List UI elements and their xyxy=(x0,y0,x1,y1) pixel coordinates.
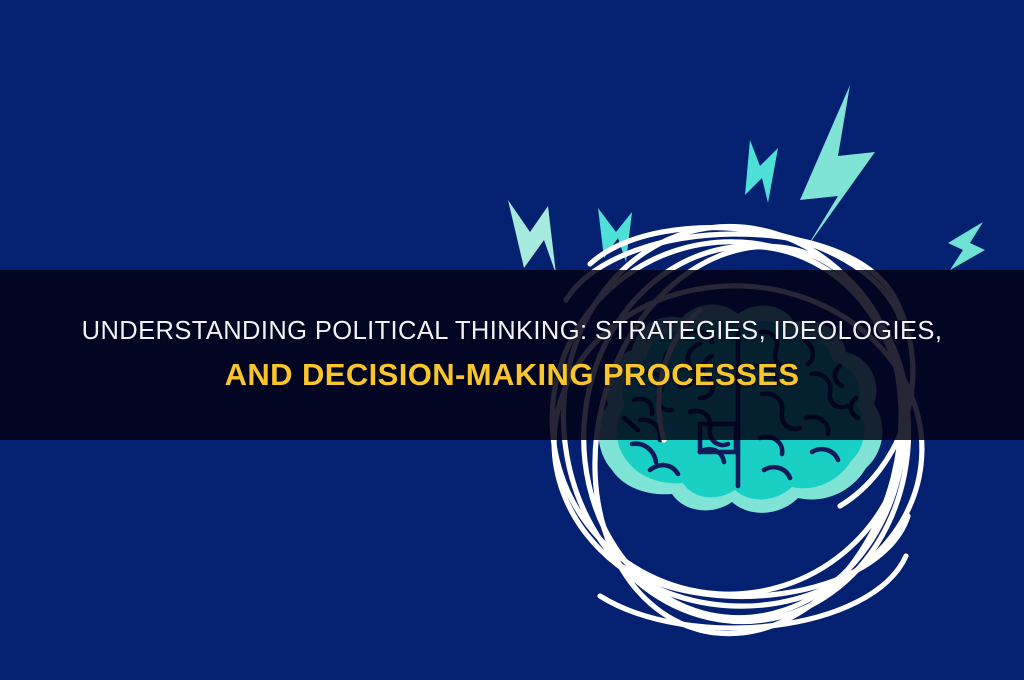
title-overlay-band xyxy=(0,270,1024,440)
banner-image: UNDERSTANDING POLITICAL THINKING: STRATE… xyxy=(0,0,1024,680)
lightning-bolt-icon-large xyxy=(800,85,875,250)
lightning-bolt-icon-right-small xyxy=(948,222,985,270)
lightning-bolt-icon-left-large xyxy=(508,200,556,274)
lightning-bolt-icon-upper-mid xyxy=(745,140,778,203)
